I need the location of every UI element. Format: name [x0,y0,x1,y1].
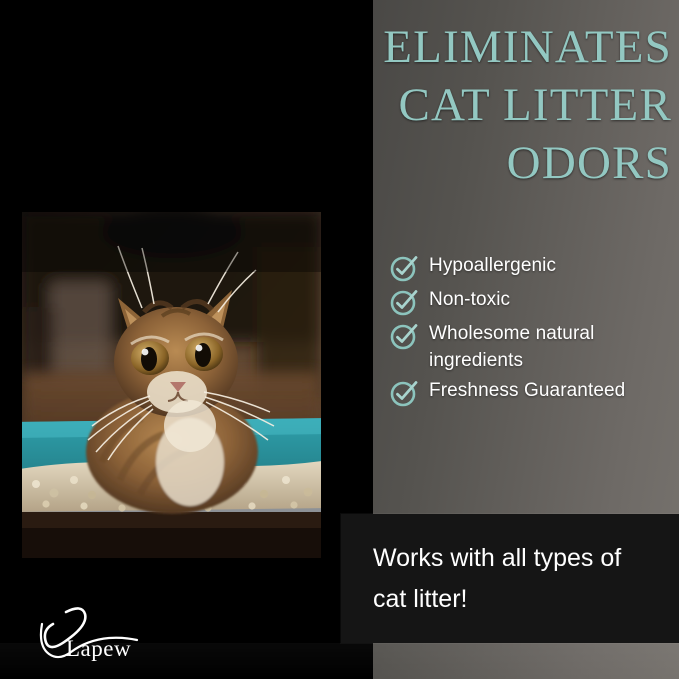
check-circle-icon [389,378,419,408]
feature-label: Non-toxic [429,286,510,313]
headline-line-1: ELIMINATES [300,18,672,76]
list-item: Non-toxic [389,286,673,317]
callout-box: Works with all types of cat litter! [341,514,679,643]
brand-name: Lapew [66,636,131,662]
feature-label: Freshness Guaranteed [429,377,625,404]
headline: ELIMINATES CAT LITTER ODORS [300,18,672,192]
check-circle-icon [389,321,419,351]
feature-label: Hypoallergenic [429,252,556,279]
product-advertisement: ELIMINATES CAT LITTER ODORS Hypoallergen… [0,0,679,679]
feature-label: Wholesome natural ingredients [429,320,673,374]
feature-list: Hypoallergenic Non-toxic Wholesome natur… [389,252,673,411]
check-circle-icon [389,287,419,317]
list-item: Hypoallergenic [389,252,673,283]
callout-text: Works with all types of cat litter! [373,538,659,620]
product-photo [22,212,321,558]
list-item: Wholesome natural ingredients [389,320,673,374]
brand-logo: Lapew [26,606,186,668]
check-circle-icon [389,253,419,283]
headline-line-3: ODORS [300,134,672,192]
list-item: Freshness Guaranteed [389,377,673,408]
headline-line-2: CAT LITTER [300,76,672,134]
